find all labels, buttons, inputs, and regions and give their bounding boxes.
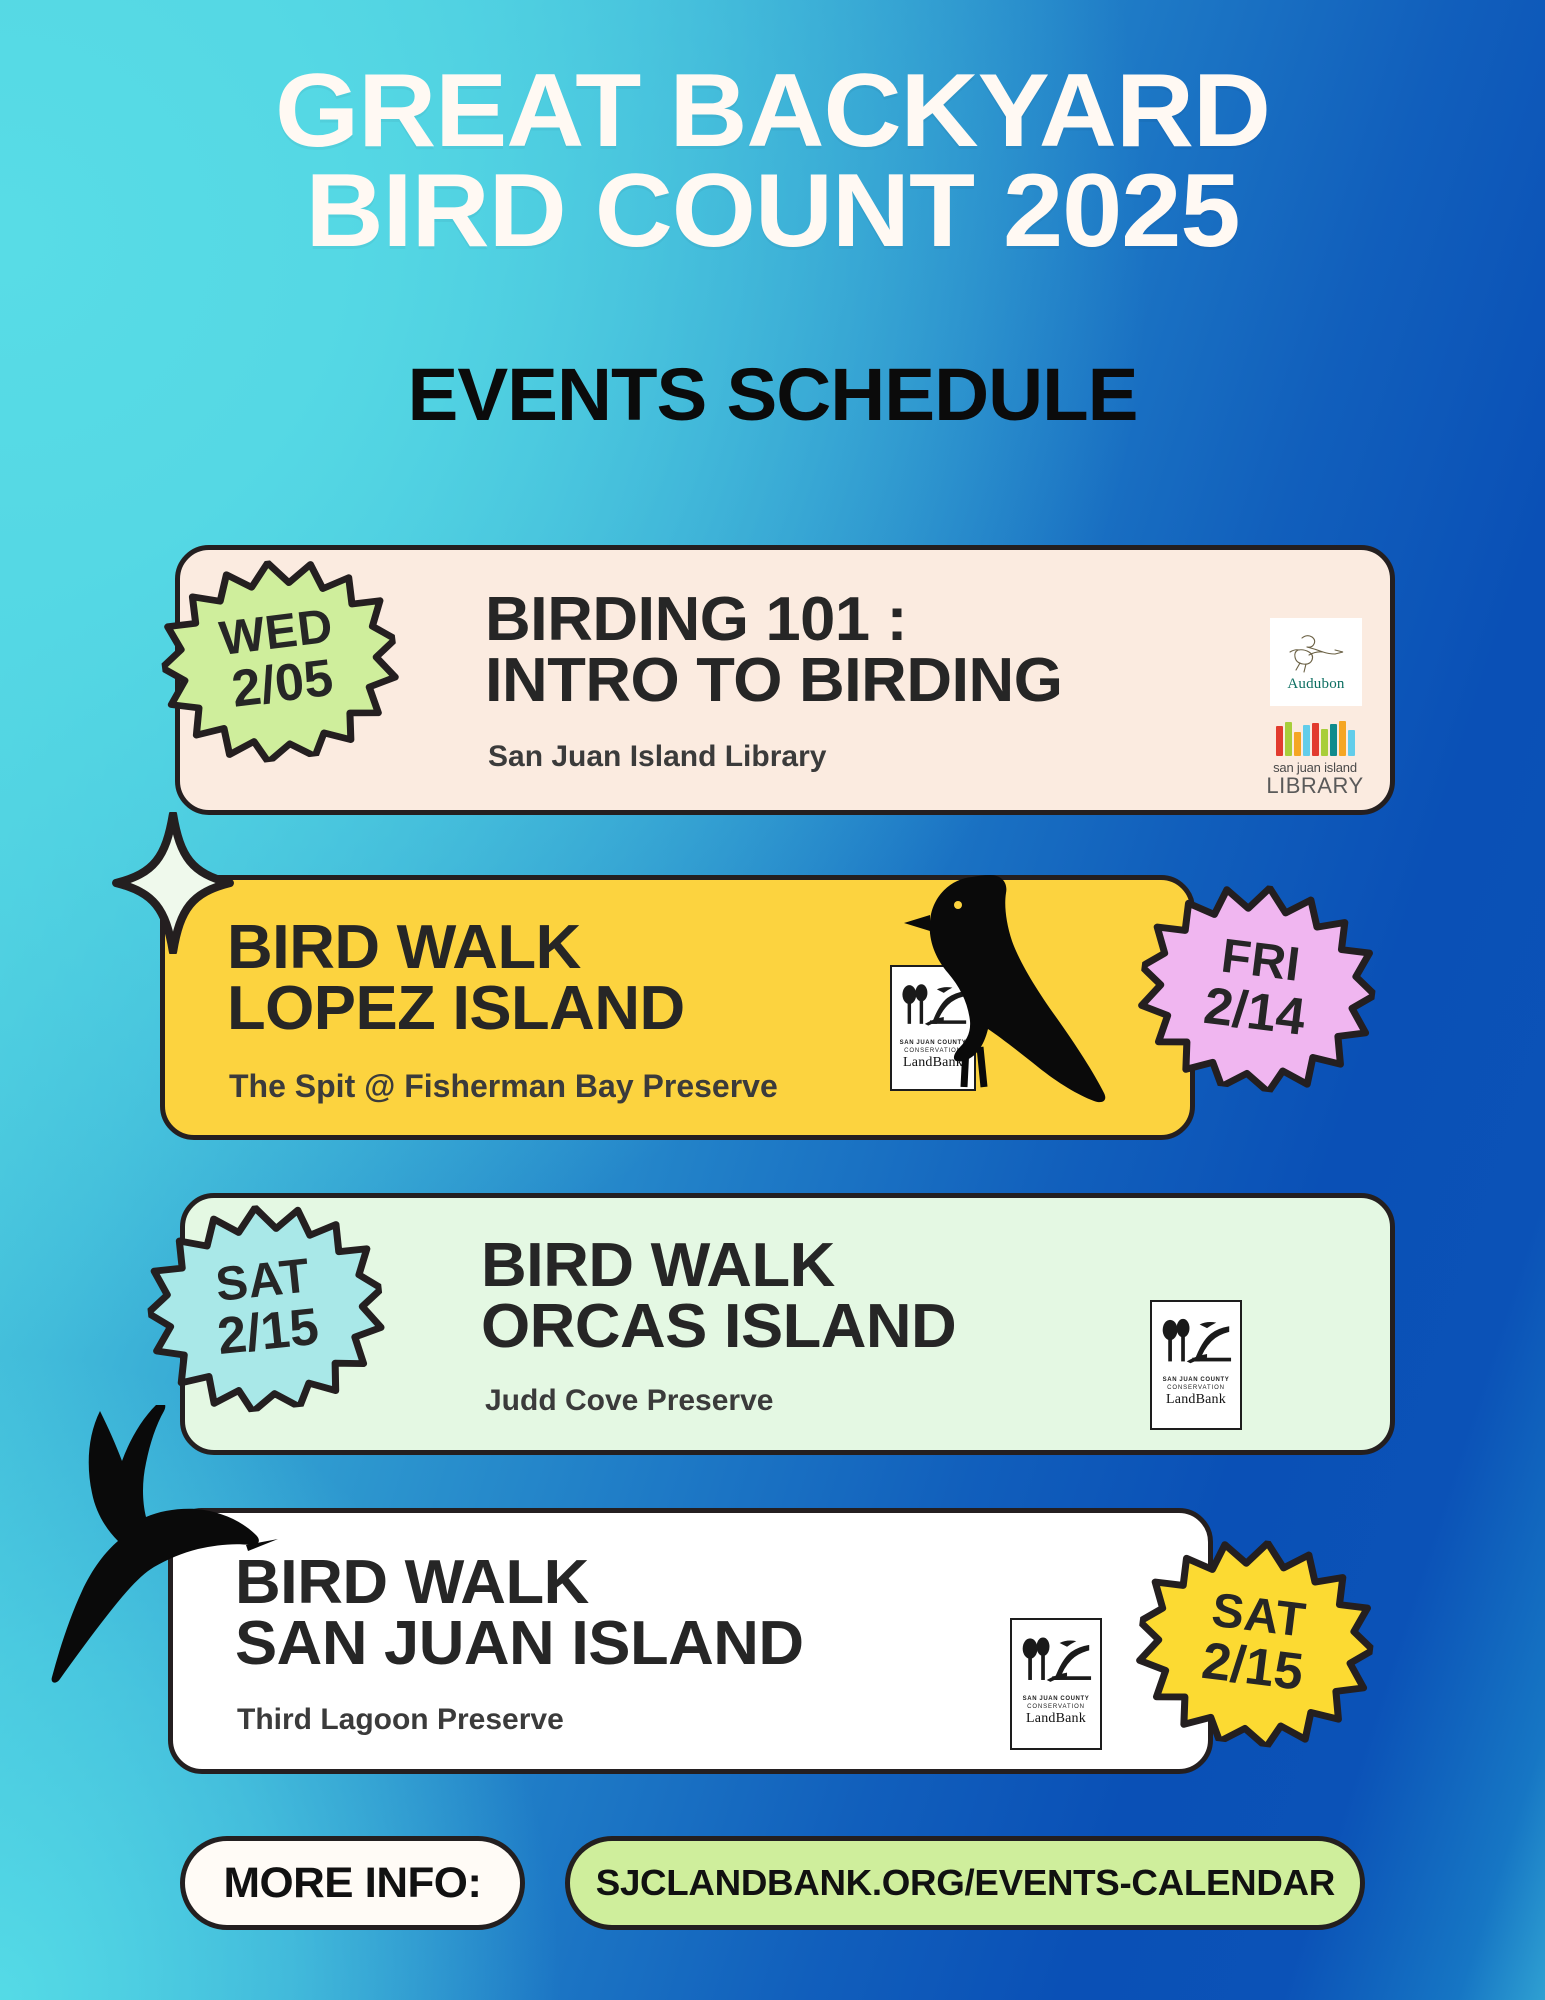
san-juan-county-land-bank-logo: SAN JUAN COUNTY CONSERVATION LandBank	[1150, 1300, 1242, 1430]
event-headline: BIRD WALK ORCAS ISLAND	[481, 1236, 956, 1358]
event-date-badge-wed: WED 2/05	[151, 546, 409, 773]
badge-date: 2/05	[223, 654, 341, 715]
badge-text: WED 2/05	[217, 604, 342, 715]
more-info-label: MORE INFO:	[180, 1836, 525, 1930]
landbank-county-text: SAN JUAN COUNTY	[1163, 1377, 1230, 1383]
event-venue: San Juan Island Library	[488, 740, 826, 774]
landbank-county-text: SAN JUAN COUNTY	[1023, 1696, 1090, 1702]
songbird-silhouette-icon	[880, 855, 1130, 1115]
badge-text: SAT 2/15	[1199, 1588, 1311, 1698]
hummingbird-silhouette-icon	[30, 1405, 280, 1685]
event-venue: The Spit @ Fisherman Bay Preserve	[229, 1068, 778, 1105]
event-headline-line-1: BIRDING 101 :	[485, 585, 907, 654]
event-headline-line-2: ORCAS ISLAND	[481, 1292, 956, 1361]
library-logo-line-2: LIBRARY	[1266, 775, 1363, 797]
event-venue: Judd Cove Preserve	[485, 1384, 773, 1418]
events-calendar-url-text: SJCLANDBANK.ORG/EVENTS-CALENDAR	[595, 1862, 1334, 1904]
event-headline-line-1: BIRD WALK	[481, 1231, 835, 1300]
audubon-wordmark: Audubon	[1287, 676, 1344, 693]
landbank-conservation-text: CONSERVATION	[1167, 1385, 1225, 1391]
event-headline-line-2: LOPEZ ISLAND	[227, 974, 685, 1043]
poster-canvas: GREAT BACKYARD BIRD COUNT 2025 EVENTS SC…	[0, 0, 1545, 2000]
landbank-wordmark: LandBank	[1166, 1392, 1226, 1408]
more-info-text: MORE INFO:	[223, 1859, 481, 1908]
badge-text: SAT 2/15	[210, 1253, 321, 1361]
page-title: GREAT BACKYARD BIRD COUNT 2025	[0, 62, 1545, 262]
badge-date: 2/14	[1201, 982, 1307, 1042]
badge-date: 2/15	[1199, 1637, 1305, 1697]
page-subtitle: EVENTS SCHEDULE	[0, 358, 1545, 432]
title-line-2: BIRD COUNT 2025	[0, 162, 1545, 262]
audubon-logo: Audubon	[1270, 618, 1362, 706]
event-headline-line-2: SAN JUAN ISLAND	[235, 1609, 804, 1678]
four-point-sparkle-icon	[112, 812, 234, 954]
san-juan-county-land-bank-logo: SAN JUAN COUNTY CONSERVATION LandBank	[1010, 1618, 1102, 1750]
landbank-wordmark: LandBank	[1026, 1711, 1086, 1727]
landbank-woodcut-icon	[1019, 1624, 1093, 1693]
events-calendar-url-button[interactable]: SJCLANDBANK.ORG/EVENTS-CALENDAR	[565, 1836, 1365, 1930]
title-line-1: GREAT BACKYARD	[275, 53, 1270, 169]
event-headline-line-2: INTRO TO BIRDING	[485, 646, 1062, 715]
event-headline-line-1: BIRD WALK	[235, 1548, 589, 1617]
event-headline: BIRD WALK SAN JUAN ISLAND	[235, 1553, 804, 1675]
event-headline-line-1: BIRD WALK	[227, 913, 581, 982]
event-date-badge-fri: FRI 2/14	[1128, 871, 1386, 1103]
event-headline: BIRD WALK LOPEZ ISLAND	[227, 918, 685, 1040]
san-juan-island-library-logo: san juan island LIBRARY	[1265, 722, 1365, 798]
landbank-conservation-text: CONSERVATION	[1027, 1704, 1085, 1710]
event-date-badge-sat-orcas: SAT 2/15	[138, 1193, 393, 1421]
poster-title-block: GREAT BACKYARD BIRD COUNT 2025	[0, 62, 1545, 262]
audubon-heron-icon	[1286, 632, 1346, 674]
landbank-woodcut-icon	[1159, 1306, 1233, 1374]
badge-date: 2/15	[215, 1303, 321, 1361]
badge-text: FRI 2/14	[1201, 933, 1313, 1043]
event-headline: BIRDING 101 : INTRO TO BIRDING	[485, 590, 1062, 712]
event-venue: Third Lagoon Preserve	[237, 1703, 564, 1737]
library-books-icon	[1276, 722, 1355, 756]
event-date-badge-sat-san-juan: SAT 2/15	[1126, 1526, 1384, 1758]
